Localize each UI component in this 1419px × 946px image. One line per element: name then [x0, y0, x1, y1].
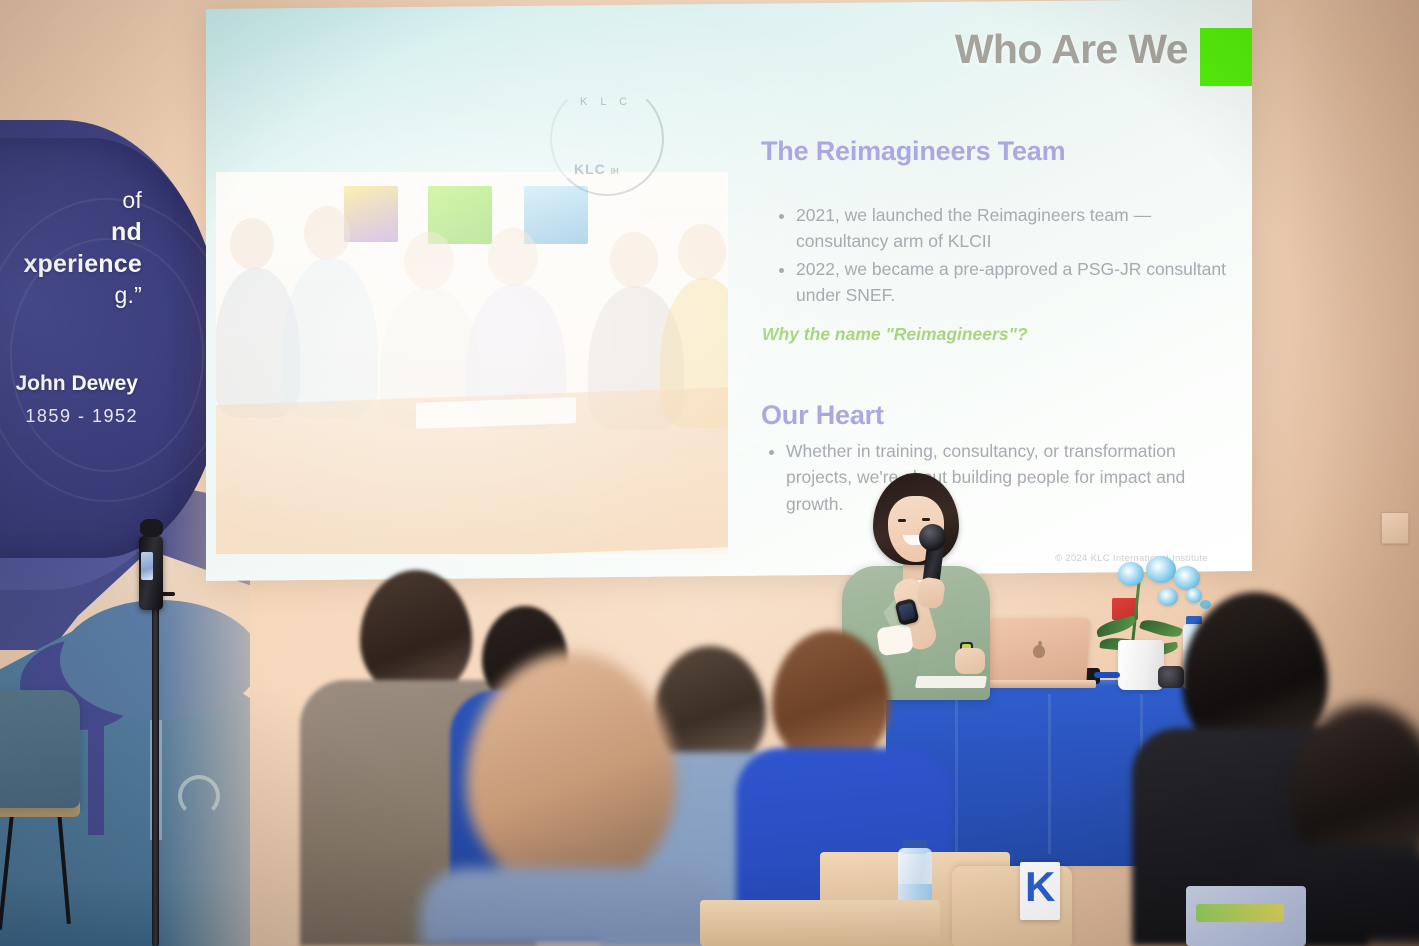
orchid-flower-icon: [1118, 562, 1144, 586]
slide-bullet: Whether in training, consultancy, or tra…: [786, 438, 1246, 517]
paper-on-table: [915, 676, 987, 688]
presenter-eye: [922, 518, 930, 521]
photo-person-head: [304, 206, 350, 260]
foreground-box-label: [1196, 904, 1284, 922]
watermark-faint-texture: [555, 192, 729, 348]
light-switch-plate: [1381, 512, 1409, 544]
wall-quote-text: of nd xperience g.”: [0, 186, 142, 311]
orchid-flower-icon: [1186, 588, 1202, 603]
laptop-base: [978, 680, 1096, 688]
room-chair-backrest: [0, 690, 80, 808]
audience-torso: [420, 868, 720, 946]
slide-bullet: 2021, we launched the Reimagineers team …: [796, 202, 1246, 255]
drape-fold: [955, 694, 958, 854]
camera-screen: [141, 552, 153, 580]
slide-bullet: 2022, we became a pre-approved a PSG-JR …: [796, 255, 1246, 308]
blue-cable: [1094, 672, 1120, 678]
watermark-brand: KLC IH: [574, 161, 619, 177]
slide-section-heading-heart: Our Heart: [761, 400, 884, 431]
orchid-flower-icon: [1158, 588, 1178, 606]
watermark-brand-suffix: IH: [611, 167, 619, 176]
k-logo-card: [1020, 862, 1060, 920]
photo-wall-art: [344, 186, 398, 242]
slide-bullets-team: 2021, we launched the Reimagineers team …: [776, 202, 1246, 309]
orchid-bud: [1200, 600, 1211, 609]
drape-fold: [1048, 694, 1051, 854]
slide-bullets-heart: Whether in training, consultancy, or tra…: [766, 438, 1246, 518]
apple-logo-icon: [1033, 645, 1045, 658]
slide-callout: Why the name "Reimagineers"?: [762, 324, 1028, 345]
orchid-flower-icon: [1174, 566, 1200, 590]
quote-line-1: of: [0, 186, 142, 216]
presenter-hand-holding-clicker: [955, 648, 985, 674]
dark-object-on-table: [1158, 666, 1184, 688]
photo-person-head: [230, 218, 274, 270]
title-accent-square: [1200, 28, 1252, 86]
projection-screen: Who Are We: [206, 0, 1252, 581]
table-edge-foreground: [700, 900, 940, 946]
quote-line-2: nd: [0, 216, 142, 249]
watermark-brand-text: KLC: [574, 161, 606, 177]
orchid-flower-icon: [1146, 556, 1176, 583]
quote-line-3: xperience: [0, 248, 142, 281]
quote-line-4: g.”: [0, 281, 142, 311]
presenter-eye: [898, 519, 906, 522]
quote-years: 1859 - 1952: [0, 406, 138, 427]
tripod-pole: [152, 598, 159, 946]
slide-section-heading-team: The Reimagineers Team: [761, 136, 1065, 167]
watermark-arc-text: K L C: [566, 96, 646, 108]
photo-person-head: [404, 232, 454, 290]
quote-attribution: John Dewey: [0, 372, 138, 396]
photo-person-head: [488, 228, 538, 286]
presentation-room-photo: of nd xperience g.” John Dewey 1859 - 19…: [0, 0, 1419, 946]
camera-lens-head-icon: [140, 519, 163, 537]
slide-title: Who Are We: [955, 26, 1188, 73]
presenter-shirt-cuff: [876, 624, 914, 656]
